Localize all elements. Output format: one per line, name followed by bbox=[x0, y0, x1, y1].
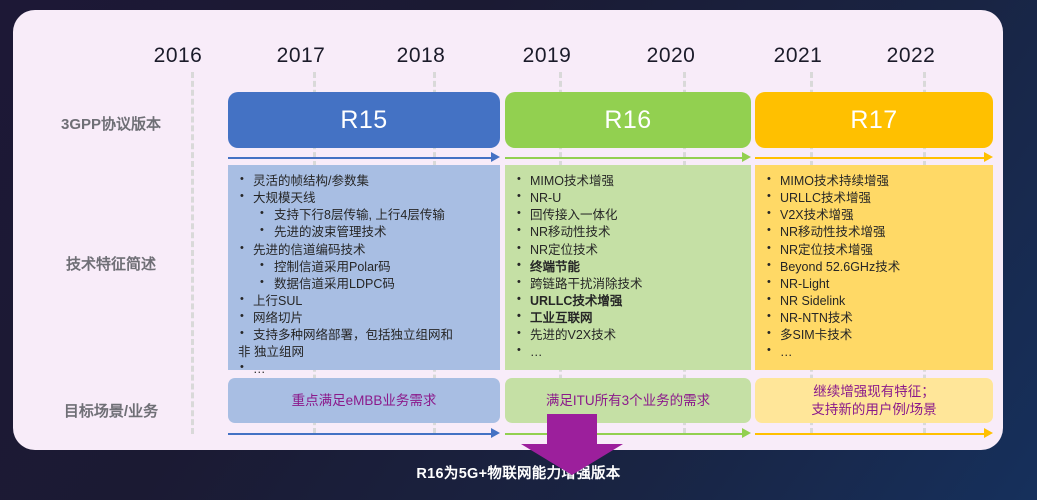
feature-item: 跨链路干扰消除技术 bbox=[515, 276, 745, 292]
year-label-2017: 2017 bbox=[261, 44, 341, 68]
feature-item: 上行SUL bbox=[238, 293, 494, 309]
feature-list-r15: 灵活的帧结构/参数集大规模天线支持下行8层传输, 上行4层传输先进的波束管理技术… bbox=[238, 173, 494, 378]
feature-item: … bbox=[765, 344, 987, 360]
feature-item: MIMO技术增强 bbox=[515, 173, 745, 189]
feature-item: 数据信道采用LDPC码 bbox=[238, 276, 494, 292]
year-label-2022: 2022 bbox=[871, 44, 951, 68]
feature-item: MIMO技术持续增强 bbox=[765, 173, 987, 189]
release-pill-r16[interactable]: R16 bbox=[505, 92, 751, 148]
row-label-scenario: 目标场景/业务 bbox=[21, 400, 201, 421]
feature-item: NR-Light bbox=[765, 276, 987, 292]
feature-item: 支持多种网络部署，包括独立组网和 bbox=[238, 327, 494, 343]
feature-list-r17: MIMO技术持续增强URLLC技术增强V2X技术增强NR移动性技术增强NR定位技… bbox=[765, 173, 987, 360]
feature-item: 工业互联网 bbox=[515, 310, 745, 326]
feature-item: 先进的V2X技术 bbox=[515, 327, 745, 343]
feature-item: 多SIM卡技术 bbox=[765, 327, 987, 343]
timeline-card: 2016 2017 2018 2019 2020 2021 2022 3GPP协… bbox=[13, 10, 1003, 450]
feature-item: URLLC技术增强 bbox=[515, 293, 745, 309]
feature-item: 终端节能 bbox=[515, 259, 745, 275]
feature-item: 大规模天线 bbox=[238, 190, 494, 206]
feature-item: NR-U bbox=[515, 190, 745, 206]
feature-item: 先进的波束管理技术 bbox=[238, 224, 494, 240]
row-label-tech: 技术特征简述 bbox=[21, 253, 201, 274]
feature-item: NR移动性技术增强 bbox=[765, 224, 987, 240]
feature-item: 控制信道采用Polar码 bbox=[238, 259, 494, 275]
timeline-arrow-r15-top bbox=[228, 152, 500, 163]
feature-item: 先进的信道编码技术 bbox=[238, 242, 494, 258]
scenario-text-r16: 满足ITU所有3个业务的需求 bbox=[546, 392, 710, 410]
feature-item: 回传接入一体化 bbox=[515, 207, 745, 223]
feature-item: NR-NTN技术 bbox=[765, 310, 987, 326]
feature-item: NR定位技术增强 bbox=[765, 242, 987, 258]
year-label-2019: 2019 bbox=[507, 44, 587, 68]
year-label-2018: 2018 bbox=[381, 44, 461, 68]
down-arrow-icon bbox=[519, 414, 625, 476]
feature-item: 支持下行8层传输, 上行4层传输 bbox=[238, 207, 494, 223]
timeline-arrow-r17-bottom bbox=[755, 428, 993, 439]
year-label-2020: 2020 bbox=[631, 44, 711, 68]
feature-item: NR Sidelink bbox=[765, 293, 987, 309]
scenario-box-r17: 继续增强现有特征；支持新的用户例/场景 bbox=[755, 378, 993, 423]
year-label-2021: 2021 bbox=[758, 44, 838, 68]
feature-item: NR定位技术 bbox=[515, 242, 745, 258]
scenario-box-r15: 重点满足eMBB业务需求 bbox=[228, 378, 500, 423]
feature-list-r16: MIMO技术增强NR-U回传接入一体化NR移动性技术NR定位技术终端节能跨链路干… bbox=[515, 173, 745, 360]
row-label-release: 3GPP协议版本 bbox=[21, 113, 201, 134]
scenario-text-r15: 重点满足eMBB业务需求 bbox=[292, 392, 437, 410]
feature-panel-r15: 灵活的帧结构/参数集大规模天线支持下行8层传输, 上行4层传输先进的波束管理技术… bbox=[228, 165, 500, 370]
release-pill-r17[interactable]: R17 bbox=[755, 92, 993, 148]
feature-item: Beyond 52.6GHz技术 bbox=[765, 259, 987, 275]
feature-panel-r16: MIMO技术增强NR-U回传接入一体化NR移动性技术NR定位技术终端节能跨链路干… bbox=[505, 165, 751, 370]
year-label-2016: 2016 bbox=[138, 44, 218, 68]
feature-item: URLLC技术增强 bbox=[765, 190, 987, 206]
feature-item: 灵活的帧结构/参数集 bbox=[238, 173, 494, 189]
timeline-arrow-r16-top bbox=[505, 152, 751, 163]
feature-item: … bbox=[238, 361, 494, 377]
feature-item: 网络切片 bbox=[238, 310, 494, 326]
feature-item: NR移动性技术 bbox=[515, 224, 745, 240]
feature-panel-r17: MIMO技术持续增强URLLC技术增强V2X技术增强NR移动性技术增强NR定位技… bbox=[755, 165, 993, 370]
timeline-arrow-r15-bottom bbox=[228, 428, 500, 439]
feature-item: 非 独立组网 bbox=[238, 344, 494, 360]
feature-item: … bbox=[515, 344, 745, 360]
feature-item: V2X技术增强 bbox=[765, 207, 987, 223]
timeline-arrow-r17-top bbox=[755, 152, 993, 163]
release-pill-r15[interactable]: R15 bbox=[228, 92, 500, 148]
scenario-text-r17: 继续增强现有特征；支持新的用户例/场景 bbox=[811, 383, 936, 418]
